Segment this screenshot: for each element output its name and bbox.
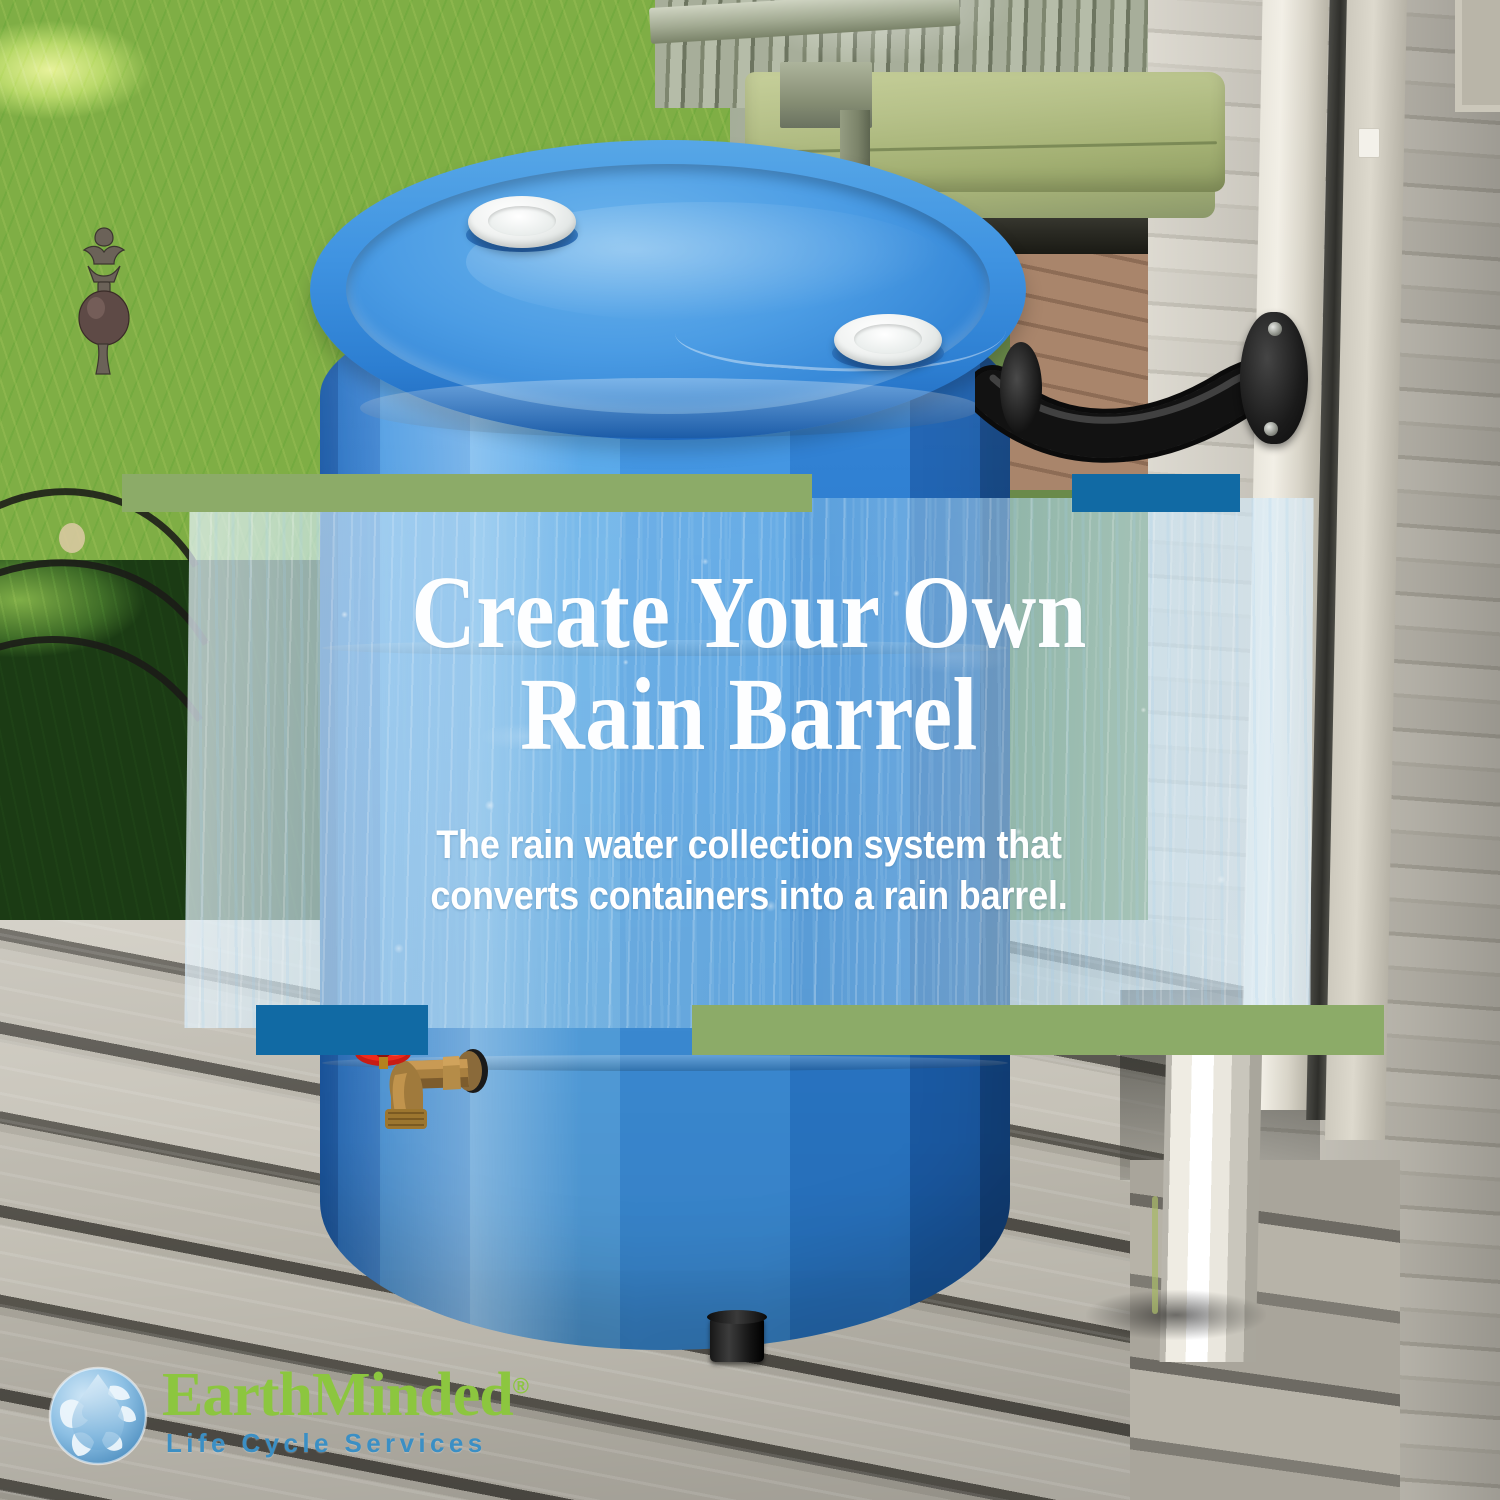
bung-cap-left-inner — [488, 206, 556, 236]
bung-cap-left — [468, 196, 576, 248]
hose-barrel-flange — [1000, 342, 1042, 434]
globe-water-drop-icon — [44, 1360, 152, 1468]
bung-cap-right-inner — [854, 324, 922, 354]
accent-bar-blue-top — [1072, 474, 1240, 512]
downspout-extension-shadow — [1086, 1290, 1266, 1340]
registered-trademark-icon: ® — [513, 1373, 528, 1398]
headline-line-2: Rain Barrel — [265, 664, 1233, 766]
bung-cap-right — [834, 314, 942, 366]
page-subtitle: The rain water collection system that co… — [242, 820, 1255, 922]
barrel-rim-lip — [360, 378, 980, 438]
headline-line-1: Create Your Own — [411, 555, 1087, 670]
garden-ornament-icon — [60, 220, 150, 450]
door-panel — [1455, 0, 1500, 112]
accent-bar-green-bottom — [692, 1005, 1384, 1055]
brand-word-minded: Minded — [312, 1361, 513, 1429]
brand-logo[interactable]: EarthMinded® Life Cycle Services — [44, 1358, 474, 1476]
overflow-fitting — [710, 1316, 764, 1362]
mount-screw-bottom — [1264, 422, 1278, 436]
wall-vent-icon — [1358, 128, 1380, 158]
barrel-lid — [346, 164, 990, 414]
headline-block: Create Your Own Rain Barrel The rain wat… — [186, 520, 1312, 990]
brand-tagline: Life Cycle Services — [166, 1428, 487, 1459]
subhead-line-2: converts containers into a rain barrel. — [242, 871, 1255, 922]
brand-wordmark-group: EarthMinded® Life Cycle Services — [162, 1364, 482, 1470]
brand-word-earth: Earth — [162, 1361, 312, 1429]
brand-wordmark: EarthMinded® — [162, 1364, 528, 1426]
mount-screw-top — [1268, 322, 1282, 336]
accent-bar-green-top — [122, 474, 812, 512]
downspout-extension-stripe — [1152, 1196, 1158, 1314]
subhead-line-1: The rain water collection system that — [436, 823, 1062, 867]
poster-canvas: Create Your Own Rain Barrel The rain wat… — [0, 0, 1500, 1500]
accent-bar-blue-bottom — [256, 1005, 428, 1055]
page-title: Create Your Own Rain Barrel — [265, 520, 1233, 766]
